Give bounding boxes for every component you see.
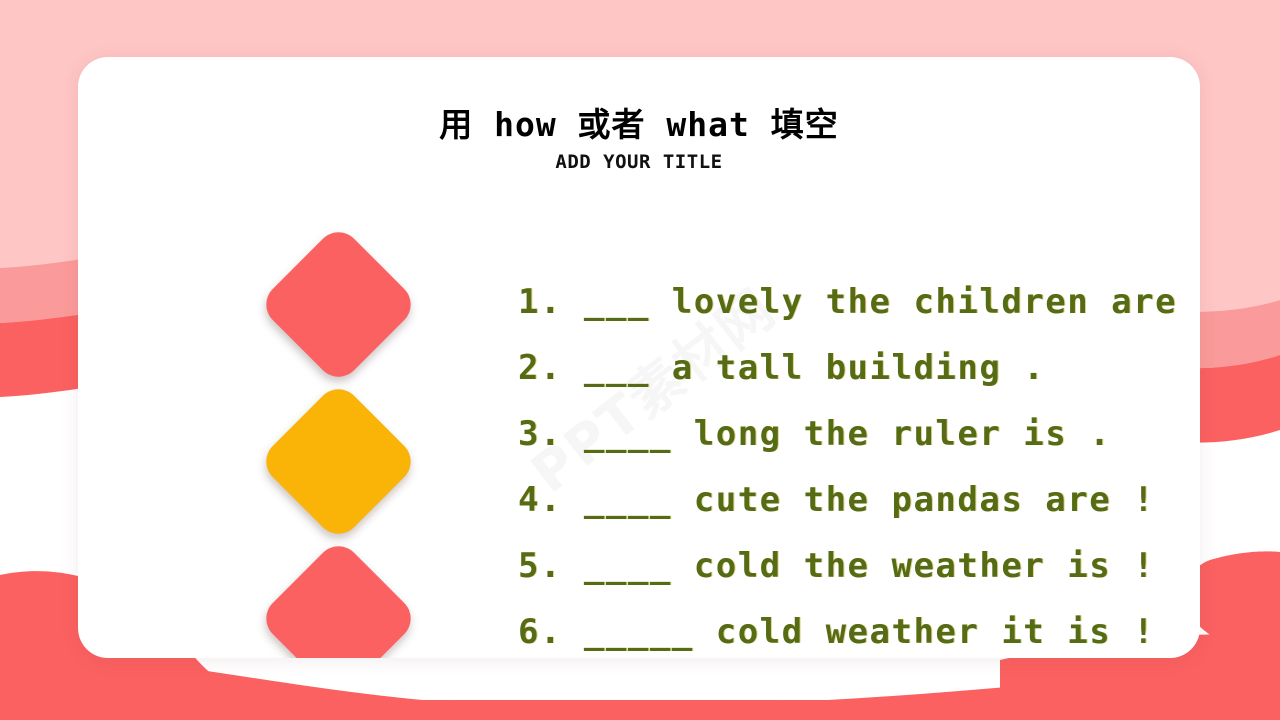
page-subtitle: ADD YOUR TITLE: [78, 151, 1200, 173]
question-item: 1. ___ lovely the children are !: [518, 269, 1200, 335]
question-item: 4. ____ cute the pandas are !: [518, 467, 1200, 533]
content-card: PPT素材网 用 how 或者 what 填空 ADD YOUR TITLE 1…: [78, 57, 1200, 658]
question-item: 3. ____ long the ruler is .: [518, 401, 1200, 467]
question-item: 5. ____ cold the weather is !: [518, 533, 1200, 599]
diamond-middle-icon: [257, 380, 420, 543]
diamond-top-icon: [257, 223, 420, 386]
bottom-coral-strip: [0, 700, 1280, 720]
question-item: 2. ___ a tall building .: [518, 335, 1200, 401]
question-item: 6. _____ cold weather it is !: [518, 599, 1200, 658]
question-list: 1. ___ lovely the children are ! 2. ___ …: [518, 269, 1200, 658]
diamond-stack: [258, 225, 420, 658]
slide-canvas: PPT素材网 用 how 或者 what 填空 ADD YOUR TITLE 1…: [0, 0, 1280, 720]
page-title: 用 how 或者 what 填空: [78, 105, 1200, 145]
wave-bottom: [0, 656, 1280, 720]
title-block: 用 how 或者 what 填空 ADD YOUR TITLE: [78, 105, 1200, 173]
diamond-bottom-icon: [257, 537, 420, 658]
